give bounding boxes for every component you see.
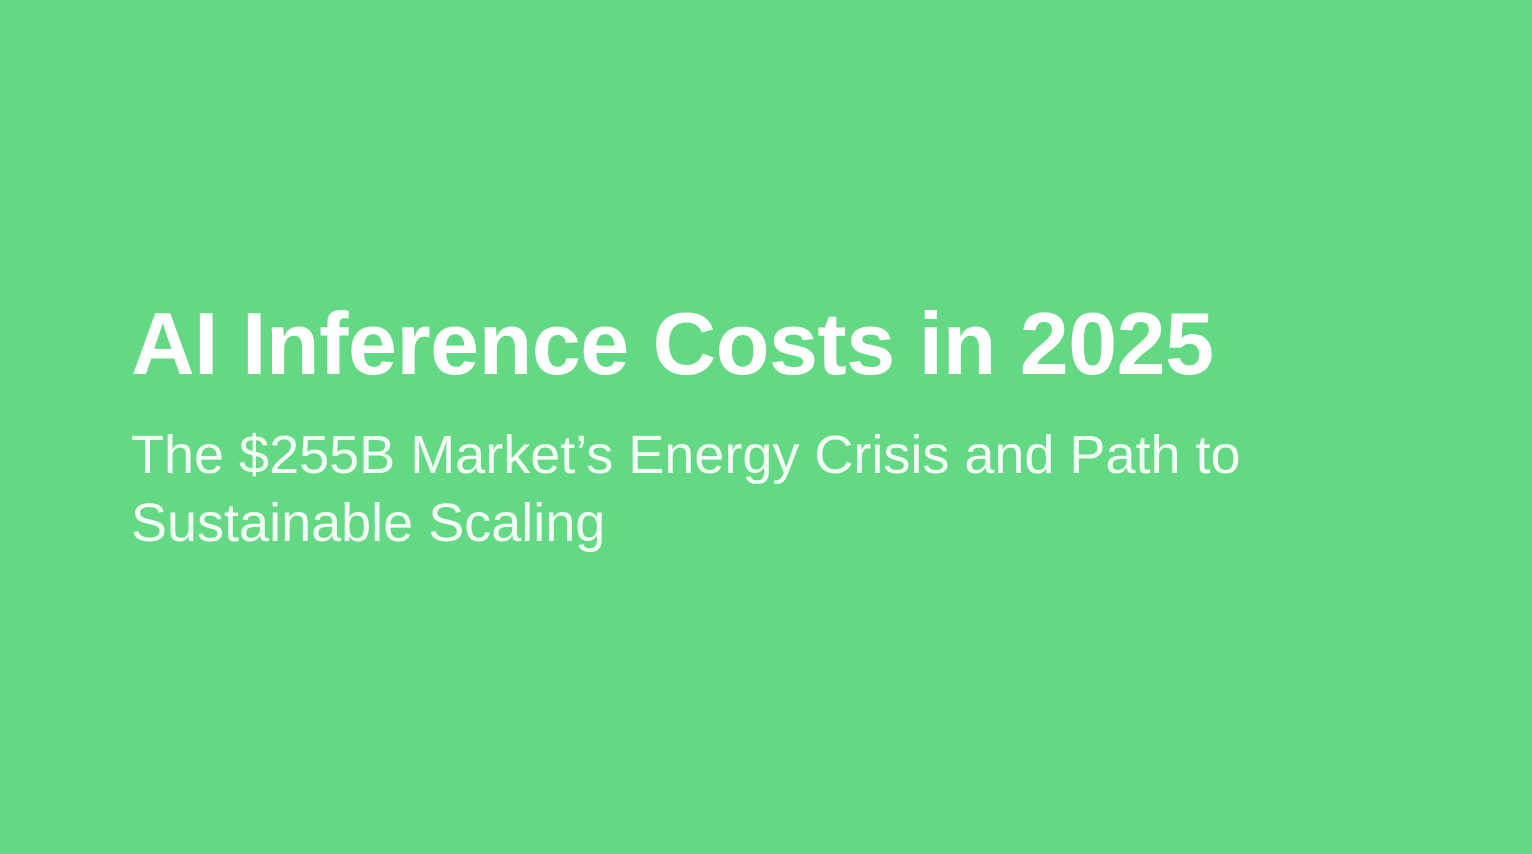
title-block: AI Inference Costs in 2025 The $255B Mar… — [131, 0, 1371, 854]
slide-subtitle: The $255B Market’s Energy Crisis and Pat… — [131, 421, 1291, 557]
title-slide: AI Inference Costs in 2025 The $255B Mar… — [0, 0, 1532, 854]
slide-title: AI Inference Costs in 2025 — [131, 297, 1214, 390]
